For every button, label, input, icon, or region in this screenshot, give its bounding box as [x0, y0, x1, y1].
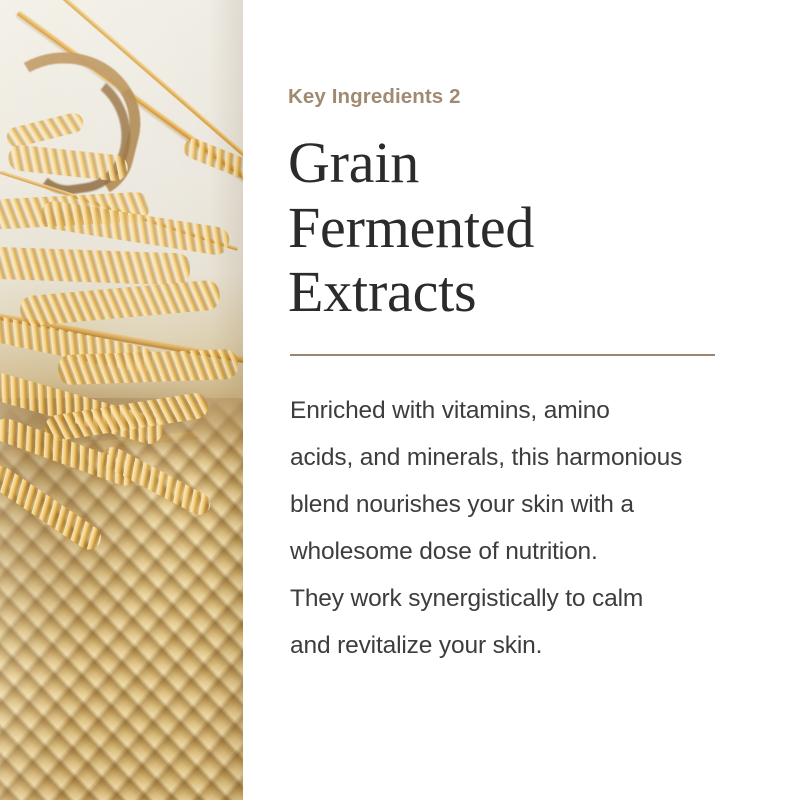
description-line-2: acids, and minerals, this harmonious: [290, 434, 738, 481]
description-line-1: Enriched with vitamins, amino: [290, 387, 738, 434]
headline-line-1: Grain: [288, 131, 738, 196]
grain-head-icon: [0, 246, 190, 285]
description-text: Enriched with vitamins, amino acids, and…: [290, 387, 738, 669]
ingredient-text-panel: Key Ingredients 2 Grain Fermented Extrac…: [243, 0, 800, 800]
description-line-5: They work synergistically to calm: [290, 575, 738, 622]
headline-line-2: Fermented: [288, 196, 738, 261]
ingredient-info-card: Key Ingredients 2 Grain Fermented Extrac…: [0, 0, 800, 800]
grain-head-icon: [58, 349, 239, 385]
accent-divider: [290, 354, 715, 356]
ingredient-photo-panel: [0, 0, 243, 800]
eyebrow-label: Key Ingredients 2: [288, 86, 738, 109]
page-title: Grain Fermented Extracts: [288, 131, 738, 326]
description-line-6: and revitalize your skin.: [290, 622, 738, 669]
description-line-4: wholesome dose of nutrition.: [290, 528, 738, 575]
description-line-3: blend nourishes your skin with a: [290, 481, 738, 528]
headline-line-3: Extracts: [288, 260, 738, 325]
